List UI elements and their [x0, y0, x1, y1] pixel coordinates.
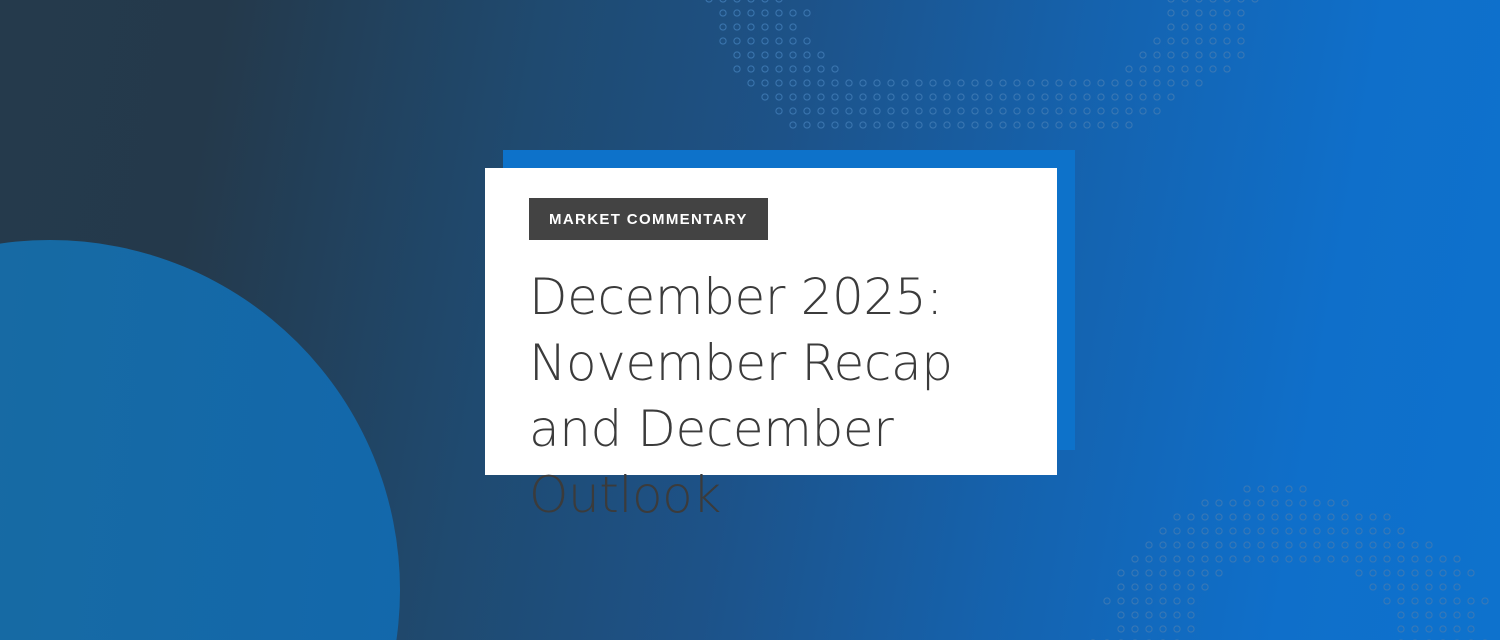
hero-banner: MARKET COMMENTARY December 2025: Novembe… [0, 0, 1500, 640]
arc-ring-decoration [0, 240, 400, 640]
dotted-map-bottom-right-icon [1086, 482, 1500, 640]
dotted-map-top-icon [660, 0, 1304, 146]
status-badge: MARKET COMMENTARY [529, 198, 768, 240]
page-title: December 2025: November Recap and Decemb… [529, 264, 1013, 528]
content-card: MARKET COMMENTARY December 2025: Novembe… [485, 168, 1057, 475]
